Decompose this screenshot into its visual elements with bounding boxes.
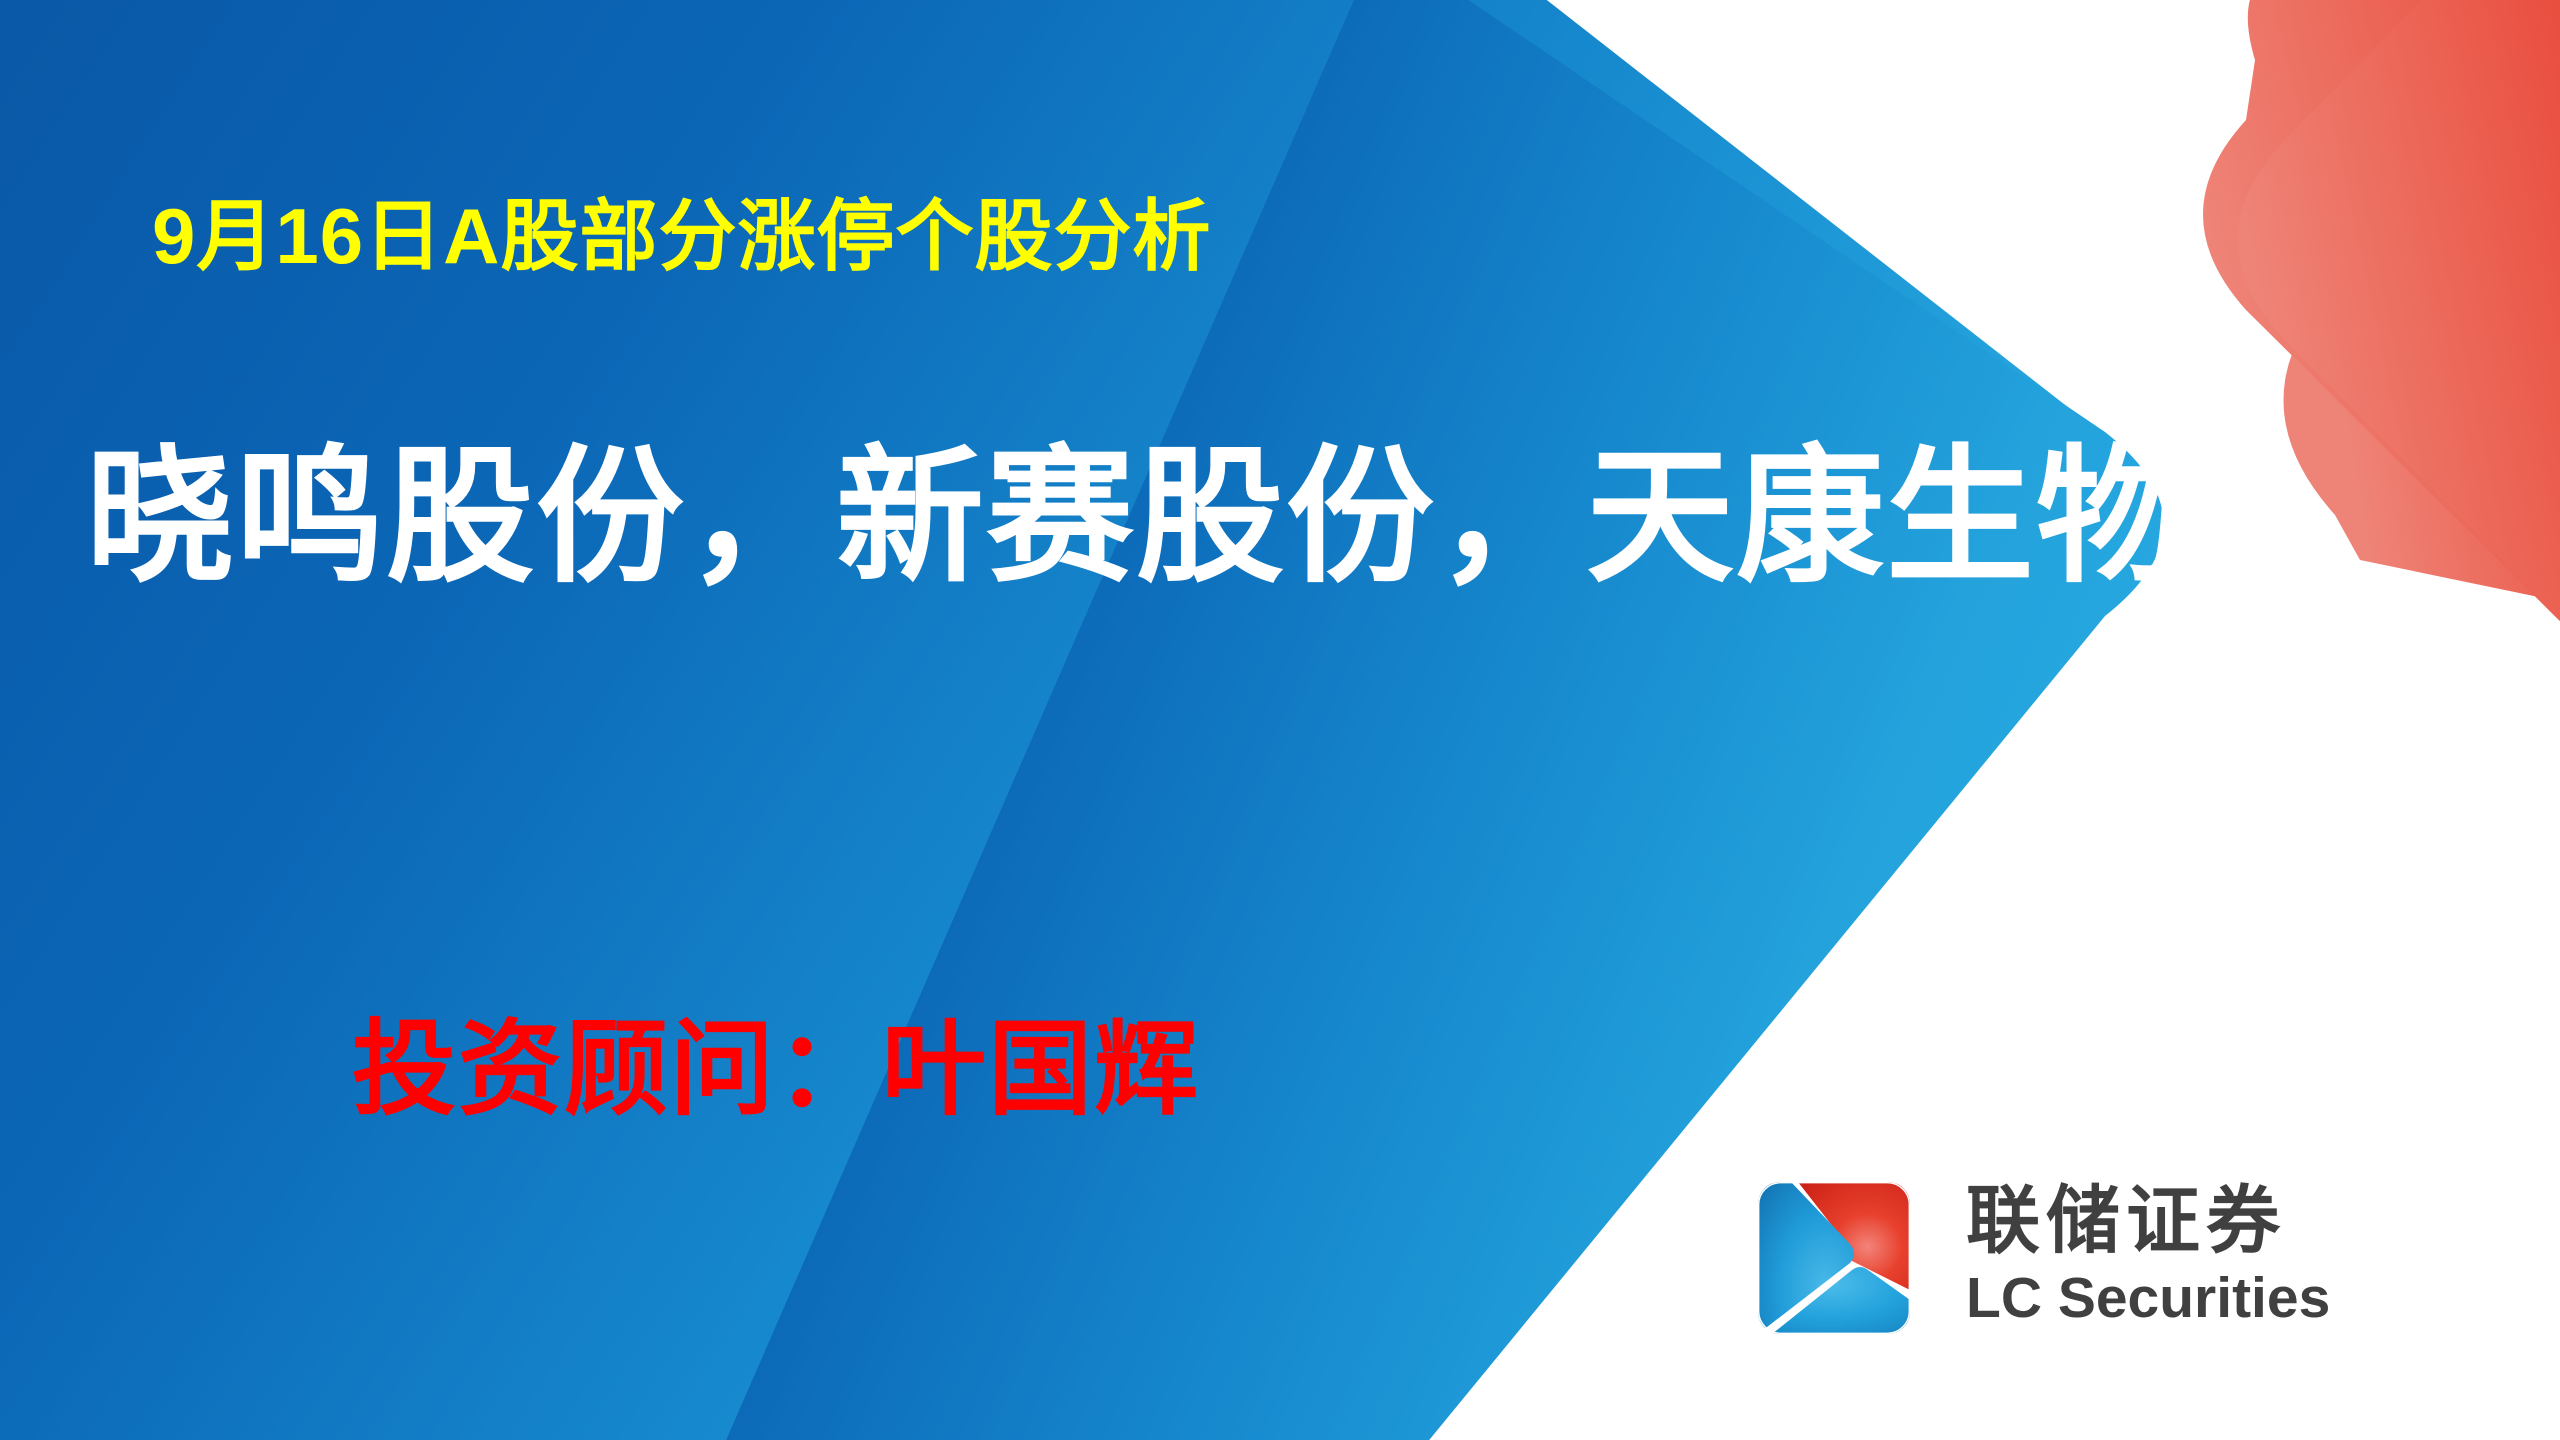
slide-advisor-line: 投资顾问：叶国辉 <box>352 1016 1200 1125</box>
brand-wordmark: 联储证券 LC Securities <box>1966 1184 2330 1327</box>
brand-logo-lockup: 联储证券 LC Securities <box>1758 1182 2330 1334</box>
lc-securities-logo-icon <box>1758 1182 1910 1334</box>
presentation-slide: 9月16日A股部分涨停个股分析 晓鸣股份，新赛股份，天康生物 投资顾问：叶国辉 <box>0 0 2560 1440</box>
brand-name-en: LC Securities <box>1966 1270 2330 1327</box>
brand-name-cn: 联储证券 <box>1966 1184 2330 1258</box>
slide-kicker-title: 9月16日A股部分涨停个股分析 <box>152 196 1211 278</box>
red-chevron-shape <box>2203 0 2560 760</box>
slide-main-title: 晓鸣股份，新赛股份，天康生物 <box>86 440 2186 595</box>
